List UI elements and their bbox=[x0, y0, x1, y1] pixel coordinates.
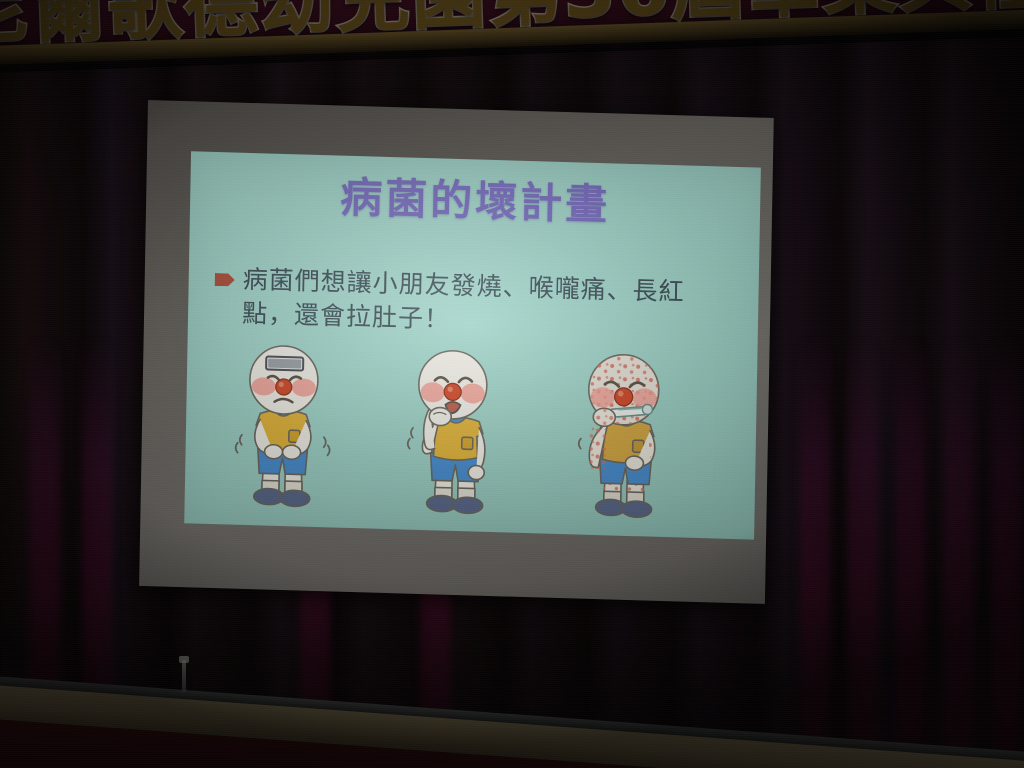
presentation-slide: 病菌的壞計畫 病菌們想讓小朋友發燒、喉嚨痛、長紅點，還會拉肚子！ bbox=[184, 151, 761, 539]
illustration-kid-rash-thermometer bbox=[554, 348, 692, 527]
curtain-fold bbox=[800, 338, 830, 768]
slide-bullet-item: 病菌們想讓小朋友發燒、喉嚨痛、長紅點，還會拉肚子！ bbox=[214, 262, 735, 345]
illustration-kid-sore-throat bbox=[383, 343, 521, 522]
microphone-stand bbox=[182, 660, 186, 692]
slide-bullet-text: 病菌們想讓小朋友發燒、喉嚨痛、長紅點，還會拉肚子！ bbox=[242, 263, 735, 345]
projection-screen: 病菌的壞計畫 病菌們想讓小朋友發燒、喉嚨痛、長紅點，還會拉肚子！ bbox=[139, 100, 774, 604]
arrow-bullet-icon bbox=[215, 273, 235, 287]
microphone-head-icon bbox=[179, 656, 189, 663]
photo-scene: 尼爾歌德幼兒園第36屆畢業典禮 病菌的壞計畫 病菌們想讓小朋友發燒、喉嚨痛、長紅… bbox=[0, 0, 1024, 768]
curtain-fold bbox=[896, 338, 926, 768]
illustration-kid-fever-stomachache bbox=[212, 338, 350, 517]
slide-title: 病菌的壞計畫 bbox=[190, 169, 761, 233]
curtain-fold bbox=[944, 338, 974, 768]
slide-illustration-group bbox=[206, 338, 739, 528]
curtain-fold bbox=[848, 338, 878, 768]
curtain-fold bbox=[992, 338, 1022, 768]
